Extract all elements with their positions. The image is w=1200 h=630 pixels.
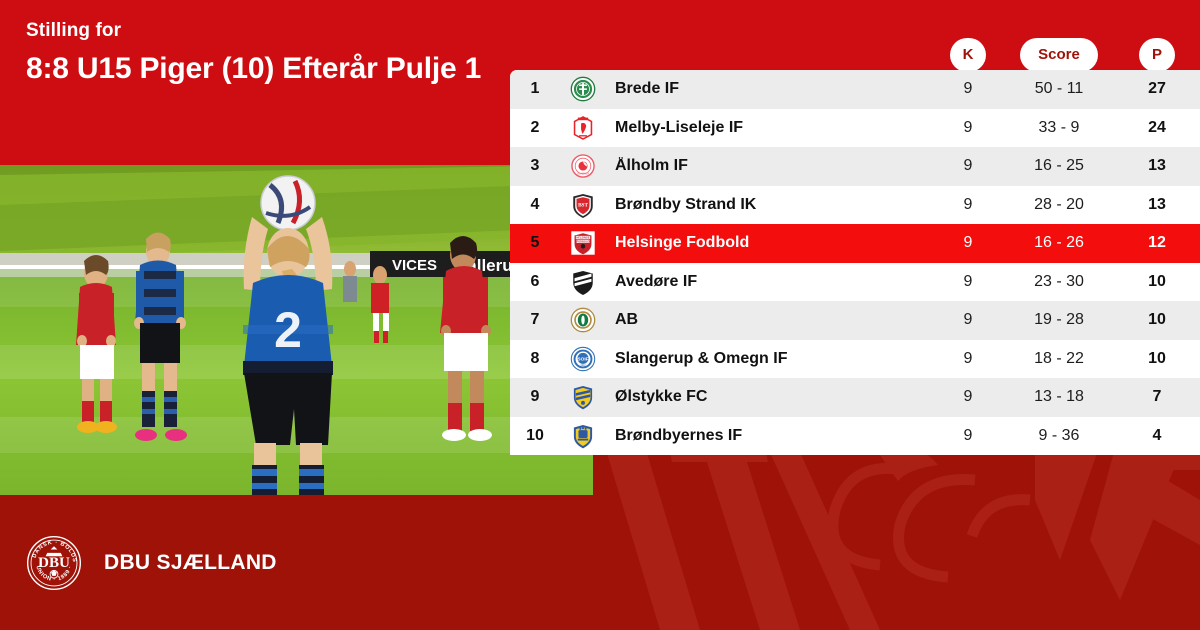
row-points: 13 bbox=[1114, 196, 1200, 214]
table-row[interactable]: 2 Melby-Liseleje IF933 - 924 bbox=[510, 109, 1200, 148]
ab-logo bbox=[560, 307, 606, 333]
row-points: 4 bbox=[1114, 427, 1200, 445]
title-block: Stilling for 8:8 U15 Piger (10) Efterår … bbox=[26, 18, 506, 87]
table-row[interactable]: 5 HELSINGE FODBOLD Helsinge Fodbold916 -… bbox=[510, 224, 1200, 263]
row-rank: 8 bbox=[510, 350, 560, 368]
row-team[interactable]: Helsinge Fodbold bbox=[606, 234, 932, 252]
row-team[interactable]: Ålholm IF bbox=[606, 157, 932, 175]
row-team[interactable]: AB bbox=[606, 311, 932, 329]
row-rank: 6 bbox=[510, 273, 560, 291]
row-points: 10 bbox=[1114, 350, 1200, 368]
row-goal-score: 28 - 20 bbox=[1004, 196, 1114, 214]
match-photo-illustration: VICES Ballerup bbox=[0, 165, 593, 495]
brondbyernes-if-logo bbox=[560, 423, 606, 449]
row-rank: 9 bbox=[510, 388, 560, 406]
row-rank: 7 bbox=[510, 311, 560, 329]
brede-if-logo bbox=[560, 76, 606, 102]
table-row[interactable]: 3 ÅLHOLMÅlholm IF916 - 2513 bbox=[510, 147, 1200, 186]
footer-org-name: DBU SJÆLLAND bbox=[104, 551, 277, 575]
row-goal-score: 19 - 28 bbox=[1004, 311, 1114, 329]
row-points: 13 bbox=[1114, 157, 1200, 175]
page-title: 8:8 U15 Piger (10) Efterår Pulje 1 bbox=[26, 50, 506, 87]
row-points: 12 bbox=[1114, 234, 1200, 252]
row-goal-score: 9 - 36 bbox=[1004, 427, 1114, 445]
svg-text:HELSINGE: HELSINGE bbox=[576, 236, 590, 240]
table-row[interactable]: 8 SOIF 1912Slangerup & Omegn IF918 - 221… bbox=[510, 340, 1200, 379]
slangerup-omegn-if-logo: SOIF 1912 bbox=[560, 346, 606, 372]
row-team[interactable]: Ølstykke FC bbox=[606, 388, 932, 406]
row-points: 24 bbox=[1114, 119, 1200, 137]
row-rank: 3 bbox=[510, 157, 560, 175]
table-row[interactable]: 4 BSTBrøndby Strand IK928 - 2013 bbox=[510, 186, 1200, 225]
row-matches-played: 9 bbox=[932, 388, 1004, 406]
svg-text:DBU: DBU bbox=[38, 555, 70, 571]
row-rank: 4 bbox=[510, 196, 560, 214]
row-goal-score: 33 - 9 bbox=[1004, 119, 1114, 137]
page-kicker: Stilling for bbox=[26, 18, 506, 44]
match-photo: VICES Ballerup bbox=[0, 165, 593, 495]
svg-text:VICES: VICES bbox=[392, 257, 437, 274]
row-points: 10 bbox=[1114, 273, 1200, 291]
standings-table: 1 Brede IF950 - 11272 Melby-Liseleje IF9… bbox=[510, 70, 1200, 455]
row-goal-score: 16 - 25 bbox=[1004, 157, 1114, 175]
row-matches-played: 9 bbox=[932, 311, 1004, 329]
row-goal-score: 50 - 11 bbox=[1004, 80, 1114, 98]
helsinge-fodbold-logo: HELSINGE FODBOLD bbox=[560, 230, 606, 256]
brondby-strand-ik-logo: BST bbox=[560, 192, 606, 218]
row-rank: 10 bbox=[510, 427, 560, 445]
row-goal-score: 23 - 30 bbox=[1004, 273, 1114, 291]
row-goal-score: 13 - 18 bbox=[1004, 388, 1114, 406]
row-matches-played: 9 bbox=[932, 119, 1004, 137]
row-points: 7 bbox=[1114, 388, 1200, 406]
table-row[interactable]: 7 AB919 - 2810 bbox=[510, 301, 1200, 340]
melby-liseleje-if-logo bbox=[560, 115, 606, 141]
table-row[interactable]: 1 Brede IF950 - 1127 bbox=[510, 70, 1200, 109]
row-matches-played: 9 bbox=[932, 80, 1004, 98]
row-team[interactable]: Brede IF bbox=[606, 80, 932, 98]
svg-text:1912: 1912 bbox=[580, 365, 586, 367]
svg-text:FODBOLD: FODBOLD bbox=[577, 240, 590, 244]
row-rank: 1 bbox=[510, 80, 560, 98]
column-header-k[interactable]: K bbox=[950, 38, 986, 72]
olstykke-fc-logo bbox=[560, 384, 606, 410]
standings-graphic: Stilling for 8:8 U15 Piger (10) Efterår … bbox=[0, 0, 1200, 630]
row-matches-played: 9 bbox=[932, 196, 1004, 214]
row-matches-played: 9 bbox=[932, 157, 1004, 175]
table-row[interactable]: 6 Avedøre IF923 - 3010 bbox=[510, 263, 1200, 302]
row-team[interactable]: Brøndby Strand IK bbox=[606, 196, 932, 214]
row-team[interactable]: Slangerup & Omegn IF bbox=[606, 350, 932, 368]
row-team[interactable]: Avedøre IF bbox=[606, 273, 932, 291]
table-row[interactable]: 9 Ølstykke FC913 - 187 bbox=[510, 378, 1200, 417]
aalholm-if-logo: ÅLHOLM bbox=[560, 153, 606, 179]
row-goal-score: 16 - 26 bbox=[1004, 234, 1114, 252]
footer: DANSK · BOLDSPIL · UNION · 1889 · DBU DB… bbox=[0, 495, 1200, 630]
dbu-circular-logo: DANSK · BOLDSPIL · UNION · 1889 · DBU bbox=[26, 535, 82, 591]
row-matches-played: 9 bbox=[932, 234, 1004, 252]
column-header-score[interactable]: Score bbox=[1020, 38, 1098, 72]
svg-text:ÅLHOLM: ÅLHOLM bbox=[577, 171, 589, 176]
avedore-if-logo bbox=[560, 269, 606, 295]
row-rank: 5 bbox=[510, 234, 560, 252]
row-points: 27 bbox=[1114, 80, 1200, 98]
row-matches-played: 9 bbox=[932, 273, 1004, 291]
row-team[interactable]: Brøndbyernes IF bbox=[606, 427, 932, 445]
column-header-p[interactable]: P bbox=[1139, 38, 1175, 72]
row-matches-played: 9 bbox=[932, 427, 1004, 445]
row-points: 10 bbox=[1114, 311, 1200, 329]
svg-text:SOIF: SOIF bbox=[577, 356, 588, 362]
row-rank: 2 bbox=[510, 119, 560, 137]
table-row[interactable]: 10 Brøndbyernes IF99 - 364 bbox=[510, 417, 1200, 456]
svg-text:BST: BST bbox=[578, 202, 588, 208]
jersey-number: 2 bbox=[274, 302, 302, 358]
row-matches-played: 9 bbox=[932, 350, 1004, 368]
row-team[interactable]: Melby-Liseleje IF bbox=[606, 119, 932, 137]
row-goal-score: 18 - 22 bbox=[1004, 350, 1114, 368]
